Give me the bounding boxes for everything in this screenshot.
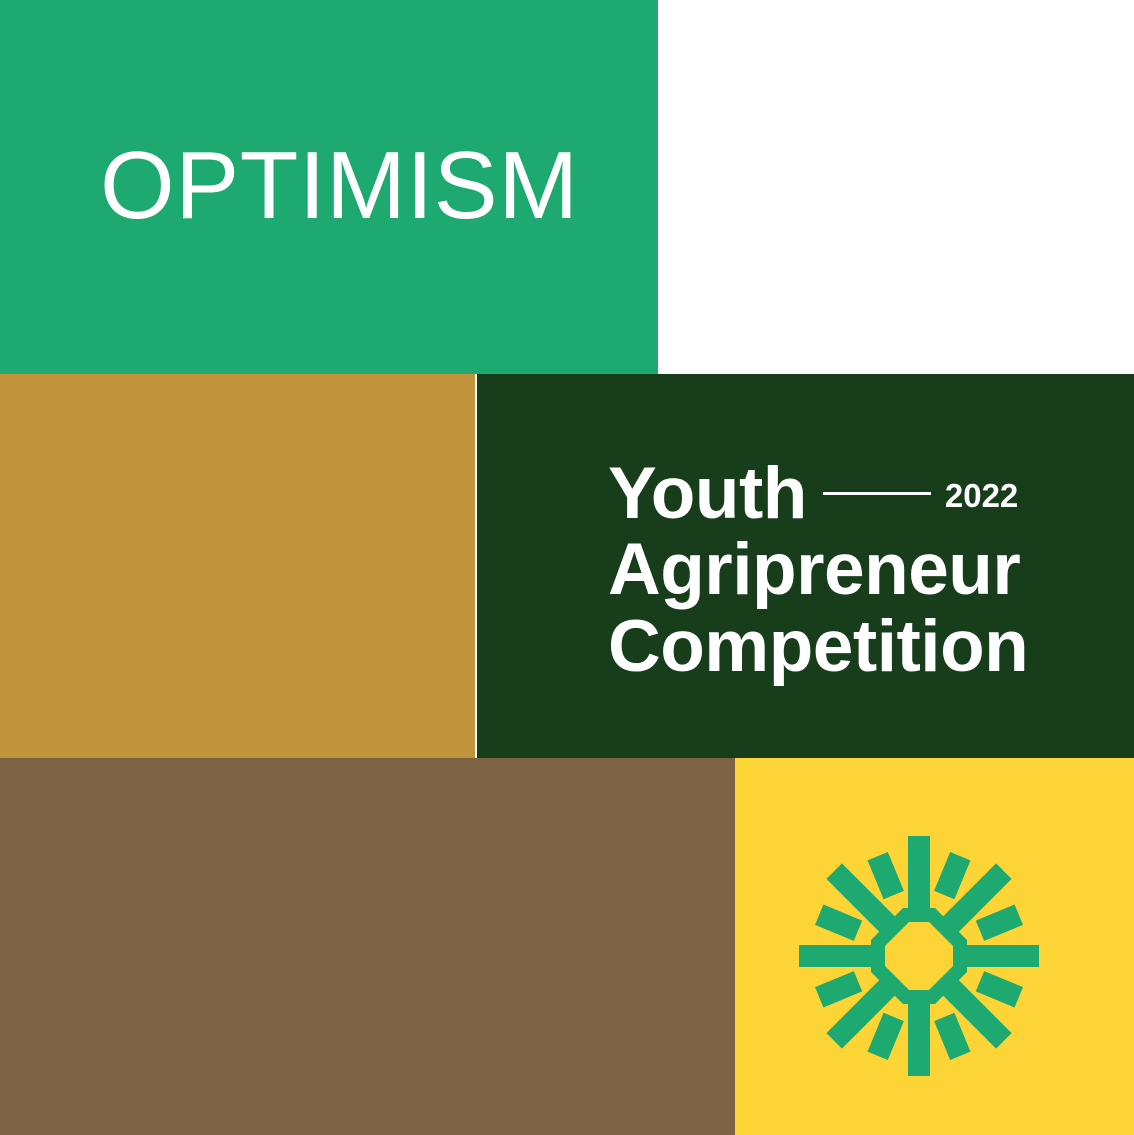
title-line-1: Youth [608,455,807,532]
title-line-2: Agripreneur [608,531,1134,608]
optimism-label: OPTIMISM [100,138,579,234]
title-block: Youth 2022 Agripreneur Competition [608,456,1134,685]
title-panel: Youth 2022 Agripreneur Competition [477,374,1134,758]
coming-soon-panel: COMING SOON [0,374,475,758]
starburst-icon [799,836,1039,1076]
encourage-panel: ENCOURAGE [0,758,735,1135]
title-year: 2022 [945,479,1018,512]
arrow-panel [658,0,1134,374]
optimism-panel: OPTIMISM [0,0,658,374]
title-rule-divider [823,492,931,495]
poster-canvas: OPTIMISM COMING SOON Youth 2022 [0,0,1134,1135]
burst-panel [735,758,1134,1135]
title-line-3: Competition [608,608,1134,685]
title-first-row: Youth 2022 [608,456,1134,531]
